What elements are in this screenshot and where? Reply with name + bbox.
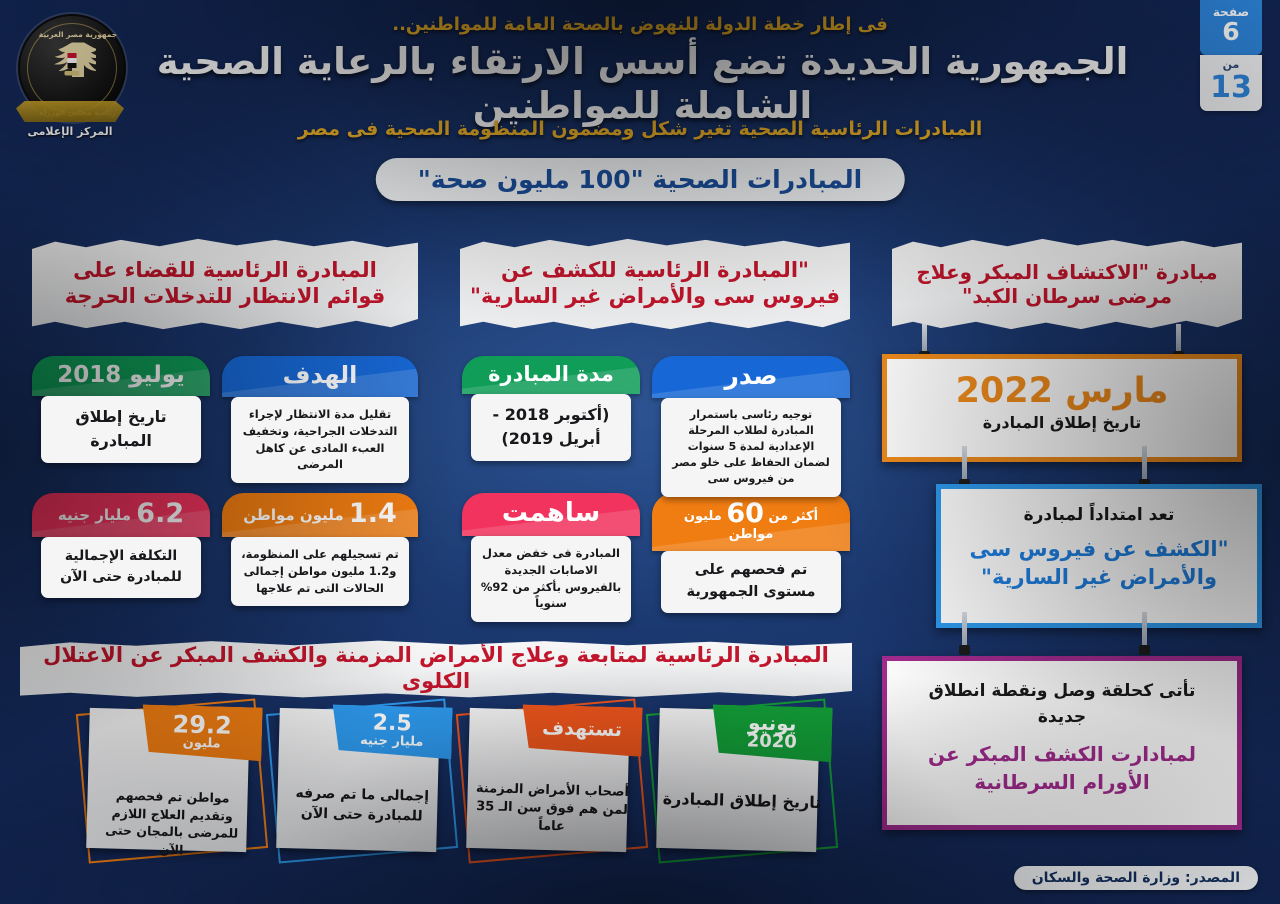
card-waiting-citizens-number: 1.4 [349, 498, 397, 529]
box-liver-extension: تعد امتداداً لمبادرة "الكشف عن فيروس سى … [936, 484, 1262, 628]
card-kidney-spend-tag-unit: مليار جنيه [336, 734, 448, 750]
card-kidney-screened-tag-main: 29.2 [146, 712, 259, 739]
card-kidney-target-body: أصحاب الأمراض المزمنة لمن هم فوق سن الـ … [471, 780, 632, 839]
eagle-of-saladin-icon [48, 38, 96, 86]
card-kidney-screened-tag-unit: مليون [146, 736, 258, 752]
banner-hcv-ncd: "المبادرة الرئاسية للكشف عن فيروس سى وال… [460, 238, 850, 330]
card-hcv-contributed-body: المبادرة فى خفض معدل الاصابات الجديدة با… [471, 536, 631, 622]
header-subhead: المبادرات الرئاسية الصحية تغير شكل ومضمو… [0, 118, 1280, 140]
card-hcv-issued-body: توجيه رئاسى باستمرار المبادرة لطلاب المر… [661, 398, 841, 497]
box-liver-extension-line1: تعد امتداداً لمبادرة [941, 505, 1257, 525]
hanger-left-3 [962, 612, 967, 648]
card-waiting-launch: يوليو 2018 تاريخ إطلاق المبادرة [32, 356, 210, 463]
card-hcv-screened: أكثر من 60 مليون مواطن تم فحصهم على مستو… [652, 493, 850, 613]
infographic-canvas: جمهورية مصر العربية رئاسة مجلس الوزراء ا… [0, 0, 1280, 904]
hanger-right-2 [1142, 446, 1147, 482]
box-liver-new-link-line1: تأتى كحلقة وصل ونقطة انطلاق جديدة [887, 679, 1237, 730]
card-hcv-contributed: ساهمت المبادرة فى خفض معدل الاصابات الجد… [462, 493, 640, 622]
card-waiting-cost-number: 6.2 [136, 498, 184, 529]
card-hcv-screened-number: 60 [726, 498, 764, 529]
card-hcv-issued: صدر توجيه رئاسى باستمرار المبادرة لطلاب … [652, 356, 850, 497]
card-kidney-screened: 29.2 مليون مواطن تم فحصهم وتقديم العلاج … [82, 706, 262, 856]
card-hcv-duration-head: مدة المبادرة [462, 356, 640, 394]
card-waiting-citizens-body: تم تسجيلهم على المنظومة، و1.2 مليون مواط… [231, 537, 409, 606]
card-waiting-launch-head: يوليو 2018 [32, 356, 210, 396]
card-waiting-cost-body: التكلفة الإجمالية للمبادرة حتى الآن [41, 537, 201, 598]
card-kidney-launch-tag-unit: 2020 [716, 732, 828, 753]
hanger-right-3 [1142, 612, 1147, 648]
page-total: 13 [1200, 72, 1262, 104]
hanger-left-1 [922, 324, 927, 354]
card-kidney-launch: يونيو 2020 تاريخ إطلاق المبادرة [652, 706, 832, 856]
card-waiting-citizens-unit: مليون مواطن [243, 506, 343, 524]
box-liver-new-link-line2: لمبادارت الكشف المبكر عن الأورام السرطان… [887, 740, 1237, 796]
box-liver-launch-date: مارس 2022 تاريخ إطلاق المبادرة [882, 354, 1242, 462]
card-hcv-duration: مدة المبادرة (أكتوبر 2018 - أبريل 2019) [462, 356, 640, 461]
card-waiting-cost: 6.2 مليار جنيه التكلفة الإجمالية للمبادر… [32, 493, 210, 598]
banner-kidney: المبادرة الرئاسية لمتابعة وعلاج الأمراض … [20, 640, 852, 698]
card-kidney-target: تستهدف أصحاب الأمراض المزمنة لمن هم فوق … [462, 706, 642, 856]
card-waiting-launch-body: تاريخ إطلاق المبادرة [41, 396, 201, 463]
page-badge-total: من 13 [1200, 55, 1262, 111]
banner-liver-cancer: مبادرة "الاكتشاف المبكر وعلاج مرضى سرطان… [892, 238, 1242, 330]
header-pill-banner: المبادرات الصحية "100 مليون صحة" [376, 158, 905, 201]
card-hcv-contributed-head: ساهمت [462, 493, 640, 536]
box-liver-launch-date-label: تاريخ إطلاق المبادرة [887, 413, 1237, 432]
box-liver-extension-line2: "الكشف عن فيروس سى والأمراض غير السارية" [941, 535, 1257, 592]
banner-waiting-lists-text: المبادرة الرئاسية للقضاء على قوائم الانت… [32, 258, 418, 309]
banner-hcv-ncd-text: "المبادرة الرئاسية للكشف عن فيروس سى وال… [460, 258, 850, 309]
source-note: المصدر: وزارة الصحة والسكان [1014, 866, 1258, 890]
card-kidney-launch-tag: يونيو 2020 [711, 704, 832, 762]
banner-kidney-text: المبادرة الرئاسية لمتابعة وعلاج الأمراض … [20, 643, 852, 694]
card-hcv-screened-prefix: أكثر من [768, 509, 818, 524]
page-title: الجمهورية الجديدة تضع أسس الارتقاء بالرع… [120, 40, 1165, 127]
card-hcv-issued-head: صدر [652, 356, 850, 398]
card-kidney-launch-body: تاريخ إطلاق المبادرة [662, 788, 823, 815]
card-hcv-duration-body: (أكتوبر 2018 - أبريل 2019) [471, 394, 631, 461]
card-kidney-spend-body: إجمالى ما تم صرفه للمبادرة حتى الآن [282, 784, 443, 827]
header-kicker: فى إطار خطة الدولة للنهوض بالصحة العامة … [0, 14, 1280, 35]
card-waiting-cost-head: 6.2 مليار جنيه [32, 493, 210, 537]
banner-waiting-lists: المبادرة الرئاسية للقضاء على قوائم الانت… [32, 238, 418, 330]
banner-liver-cancer-text: مبادرة "الاكتشاف المبكر وعلاج مرضى سرطان… [892, 260, 1242, 309]
card-hcv-screened-body: تم فحصهم على مستوى الجمهورية [661, 551, 841, 614]
hanger-left-2 [962, 446, 967, 482]
card-waiting-goal: الهدف تقليل مدة الانتظار لإجراء التدخلات… [222, 356, 418, 483]
card-waiting-citizens-head: 1.4 مليون مواطن [222, 493, 418, 537]
card-kidney-spend: 2.5 مليار جنيه إجمالى ما تم صرفه للمبادر… [272, 706, 452, 856]
card-kidney-spend-tag-main: 2.5 [336, 712, 449, 737]
card-kidney-screened-body: مواطن تم فحصهم وتقديم العلاج اللازم للمر… [91, 786, 253, 860]
box-liver-new-link: تأتى كحلقة وصل ونقطة انطلاق جديدة لمبادا… [882, 656, 1242, 830]
card-kidney-screened-tag: 29.2 مليون [141, 704, 262, 761]
box-liver-launch-date-value: مارس 2022 [887, 373, 1237, 410]
card-waiting-cost-unit: مليار جنيه [58, 506, 131, 524]
hanger-right-1 [1176, 324, 1181, 354]
card-waiting-goal-head: الهدف [222, 356, 418, 397]
card-kidney-target-tag-main: تستهدف [526, 719, 638, 741]
card-waiting-citizens: 1.4 مليون مواطن تم تسجيلهم على المنظومة،… [222, 493, 418, 606]
card-waiting-goal-body: تقليل مدة الانتظار لإجراء التدخلات الجرا… [231, 397, 409, 483]
card-hcv-screened-head: أكثر من 60 مليون مواطن [652, 493, 850, 551]
